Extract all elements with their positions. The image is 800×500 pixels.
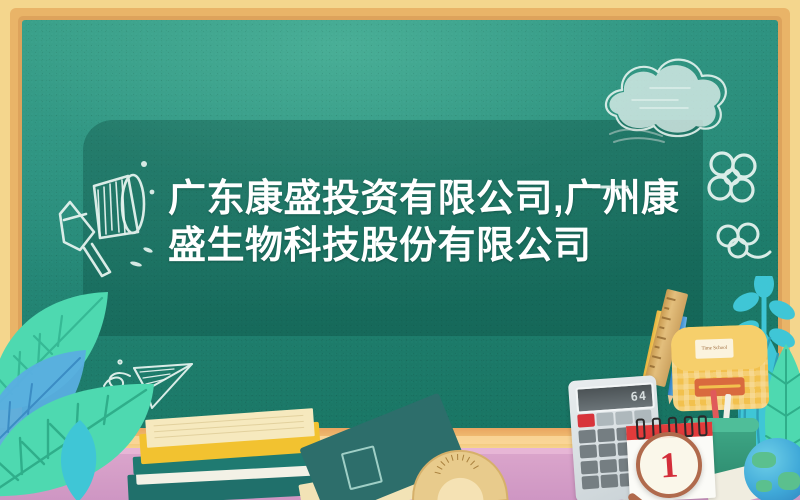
calculator-key xyxy=(601,474,618,488)
calculator-key xyxy=(577,413,594,427)
calculator-key xyxy=(580,460,597,474)
calculator-key xyxy=(600,459,617,473)
globe xyxy=(744,438,800,500)
calculator-key xyxy=(582,475,599,489)
backpack-label: Time School xyxy=(695,339,734,359)
calculator-key xyxy=(597,428,614,442)
calculator-key xyxy=(596,412,613,426)
page-title: 广东康盛投资有限公司,广州康盛生物科技股份有限公司 xyxy=(168,176,716,270)
notepad-spiral xyxy=(684,416,694,437)
backpack: Time School xyxy=(671,324,770,411)
calculator-key xyxy=(579,444,596,458)
book-cover-emblem xyxy=(341,445,383,490)
calculator-key xyxy=(578,429,595,443)
notepad-spiral xyxy=(636,418,646,439)
leaf-teal-small-left xyxy=(44,418,114,500)
calculator-display-value: 64 xyxy=(630,388,652,403)
calculator-key xyxy=(598,443,615,457)
backpack-pocket xyxy=(694,377,745,397)
calculator-key xyxy=(615,411,632,425)
poster-canvas: 广东康盛投资有限公司,广州康盛生物科技股份有限公司 xyxy=(0,0,800,500)
magnifier-number: 1 xyxy=(659,446,679,483)
notepad-spiral xyxy=(698,415,708,436)
calculator-display: 64 xyxy=(575,382,655,413)
